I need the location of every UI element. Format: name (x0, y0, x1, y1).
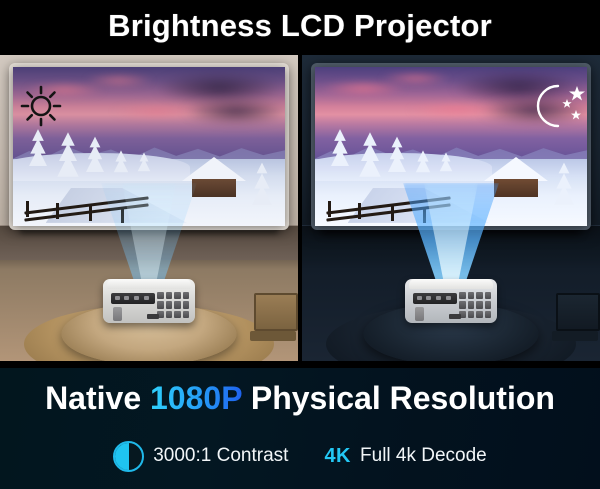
headline-prefix: Native (45, 380, 141, 416)
pine-tree (331, 124, 349, 166)
pine-tree-snowy (252, 150, 272, 204)
pine-tree (416, 140, 430, 174)
resolution-headline: Native 1080P Physical Resolution (0, 380, 600, 417)
contrast-icon (113, 441, 144, 472)
projector-top (409, 279, 493, 289)
spec-decode-label: Full 4k Decode (360, 445, 487, 467)
cloud (111, 105, 203, 118)
cabin-body (192, 179, 236, 197)
cabin-roof (182, 157, 246, 181)
spec-decode: 4K Full 4k Decode (324, 445, 486, 468)
fence-post (56, 203, 59, 219)
projector-badge (449, 314, 461, 319)
projector-body (103, 279, 195, 323)
spec-contrast-label: 3000:1 Contrast (153, 445, 288, 467)
pine-tree-snowy (554, 150, 574, 204)
comparison-panel-night (302, 55, 600, 361)
fence-post (391, 205, 394, 221)
headline-resolution-value: 1080P (150, 380, 242, 416)
cabin-roof (484, 157, 548, 181)
four-k-badge: 4K (324, 445, 351, 468)
chair-night (552, 293, 598, 347)
comparison-stage (0, 55, 600, 361)
projector-vents (459, 292, 491, 318)
sun-icon (18, 83, 64, 129)
pine-tree (359, 119, 381, 175)
projector-port-panel (413, 293, 457, 304)
projector-side-slot (415, 307, 424, 321)
info-bar: Native 1080P Physical Resolution 3000:1 … (0, 368, 600, 489)
comparison-panel-daylight (0, 55, 298, 361)
projector-device-day (103, 271, 195, 323)
projector-top (107, 279, 191, 289)
spec-row: 3000:1 Contrast 4K Full 4k Decode (0, 434, 600, 478)
pine-tree (138, 146, 150, 174)
fence-post (358, 203, 361, 219)
moon-stars-icon (530, 81, 586, 131)
pine-tree (29, 124, 47, 166)
projector-side-slot (113, 307, 122, 321)
projector-body (405, 279, 497, 323)
projector-device-night (405, 271, 497, 323)
fence-post (328, 201, 331, 217)
spec-contrast: 3000:1 Contrast (113, 441, 288, 472)
chair-day (250, 293, 296, 347)
cloud (320, 81, 407, 95)
projector-port-panel (111, 293, 155, 304)
chair-back (254, 293, 298, 331)
chair-seat (552, 331, 598, 341)
projector-vents (157, 292, 189, 318)
fence-post (89, 205, 92, 221)
pine-tree (388, 128, 406, 172)
pine-tree (440, 146, 452, 174)
pine-tree (114, 140, 128, 174)
headline-suffix: Physical Resolution (251, 380, 555, 416)
pine-tree (86, 128, 104, 172)
projector-badge (147, 314, 159, 319)
cabin-body (494, 179, 538, 197)
chair-back (556, 293, 600, 331)
page-title: Brightness LCD Projector (0, 0, 600, 52)
chair-seat (250, 331, 296, 341)
fence-post (26, 201, 29, 217)
product-marketing-image: Brightness LCD Projector (0, 0, 600, 489)
